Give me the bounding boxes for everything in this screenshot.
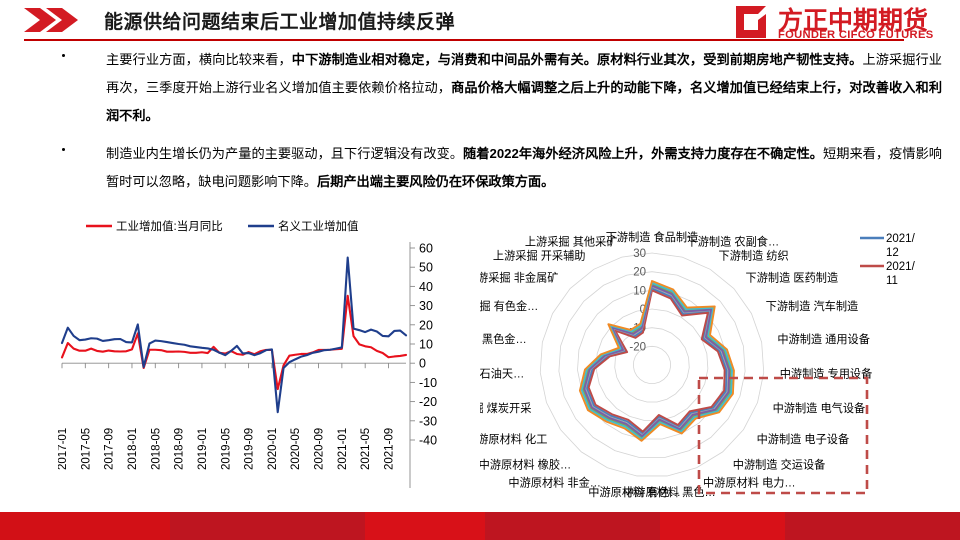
y-axis-label: -20 [419,395,437,409]
radar-category-label: 中游原材料 化工 [480,432,547,446]
radar-category-label: 中游原材料 电力… [703,475,796,489]
y-axis-label: 10 [419,338,433,352]
company-logo: 方正中期期货 FOUNDER CIFCO FUTURES [730,2,946,42]
radial-axis-label: 20 [633,267,646,279]
radar-category-label: 中游制造 电气设备 [773,401,866,415]
legend-label: 2021/ [886,261,916,273]
bullet-emphasis: 随着2022年海外经济风险上升，外需支持力度存在不确定性。 [463,146,823,161]
x-axis-label: 2021-01 [337,428,349,470]
x-axis-label: 2019-09 [244,428,256,470]
radar-category-label: 下游制造 医药制造 [746,271,839,285]
footer-segment [785,512,960,540]
radar-category-label: 中游制造 电子设备 [757,432,850,446]
data-series-line [62,296,406,389]
radar-category-label: 下游制造 食品制造 [606,230,699,244]
radar-category-label: 上游采掘 开采辅助 [493,249,586,263]
y-axis-label: -10 [419,376,437,390]
x-axis-label: 2018-01 [127,428,139,470]
industry-sector-radar-chart: -20-100102030下游制造 食品制造下游制造 农副食…下游制造 纺织下游… [480,220,960,520]
y-axis-label: -30 [419,414,437,428]
y-axis-label: 60 [419,242,433,256]
x-axis-label: 2019-05 [220,428,232,470]
footer-segment [170,512,365,540]
radar-category-label: 上游采掘 其他采矿 [525,235,618,249]
radar-grid-ring [615,328,689,402]
bullet-emphasis: 后期产出端主要风险仍在环保政策方面。 [317,174,554,189]
radial-axis-label: 30 [633,248,646,260]
legend-label-cont: 11 [886,275,898,287]
x-axis-label: 2021-05 [360,428,372,470]
x-axis-label: 2017-01 [58,428,69,470]
double-chevron-right-icon [24,7,90,33]
radar-category-label: 上游采掘 黑色金… [480,332,527,346]
chart-legend: 工业增加值:当月同比名义工业增加值 [86,219,359,233]
bullet-dot-icon [62,148,65,151]
industrial-value-added-line-chart: 工业增加值:当月同比名义工业增加值-40-30-20-1001020304050… [58,218,488,518]
radar-category-label: 中游原材料 非金… [508,475,601,489]
bullet-list: 主要行业方面，横向比较来看，中下游制造业相对稳定，与消费和中间品外需有关。原材料… [62,46,942,206]
footer-segment [660,512,785,540]
y-axis-label: 0 [419,357,426,371]
x-axis-label: 2021-09 [384,428,396,470]
footer-segment [485,512,660,540]
x-axis-label: 2019-01 [197,428,209,470]
footer-segment [365,512,485,540]
x-axis-label: 2017-05 [80,428,92,470]
radar-category-label: 中游制造 通用设备 [777,332,870,346]
logo-text-en: FOUNDER CIFCO FUTURES [778,29,933,41]
y-axis-label: -40 [419,434,437,448]
legend-label: 工业增加值:当月同比 [116,219,223,233]
legend-label: 2021/ [886,233,916,245]
radar-category-label: 中游制造 交运设备 [733,457,826,471]
y-axis-label: 40 [419,280,433,294]
radar-category-label: 中游原材料 橡胶… [480,457,571,471]
x-axis-label: 2020-09 [314,428,326,470]
slide-header: 能源供给问题结束后工业增加值持续反弹 方正中期期货 FOUNDER CIFCO … [0,0,960,42]
x-axis-label: 2017-09 [104,428,116,470]
radar-category-label: 下游制造 汽车制造 [766,299,859,313]
list-item: 制造业内生增长仍为产量的主要驱动，且下行逻辑没有改变。随着2022年海外经济风险… [62,140,942,196]
radial-axis-label: -20 [629,341,646,353]
page-title: 能源供给问题结束后工业增加值持续反弹 [104,7,455,34]
x-axis-label: 2020-05 [290,428,302,470]
legend-label: 名义工业增加值 [278,219,359,233]
radar-category-label: 上游采掘 煤炭开采 [480,401,531,415]
bullet-plain: 制造业内生增长仍为产量的主要驱动，且下行逻辑没有改变。 [106,146,463,161]
radar-category-label: 中游原材料 有色… [588,485,681,499]
x-axis-label: 2018-05 [150,428,162,470]
bullet-dot-icon [62,54,65,57]
radar-category-label: 下游制造 农副食… [687,235,780,249]
x-axis-label: 2020-01 [267,428,279,470]
x-axis-label: 2018-09 [174,428,186,470]
radar-legend: 2021/122021/11 [860,233,916,287]
radar-category-label: 上游采掘 非金属矿 [480,271,558,285]
radar-category-label: 上游采掘 石油天… [480,367,524,381]
footer-bar [0,512,960,540]
y-axis-label: 30 [419,299,433,313]
bullet-text: 主要行业方面，横向比较来看，中下游制造业相对稳定，与消费和中间品外需有关。原材料… [106,46,942,130]
radar-category-label: 上游采掘 有色金… [480,299,538,313]
logo-mark-icon [732,4,772,40]
y-axis-label: 50 [419,261,433,275]
y-axis-label: 20 [419,318,433,332]
bullet-text: 制造业内生增长仍为产量的主要驱动，且下行逻辑没有改变。随着2022年海外经济风险… [106,140,942,196]
bullet-plain: 主要行业方面，横向比较来看， [106,52,292,67]
legend-label-cont: 12 [886,247,899,259]
footer-segment [0,512,170,540]
bullet-emphasis: 中下游制造业相对稳定，与消费和中间品外需有关。原材料行业其次，受到前期房地产韧性… [292,52,863,67]
radial-axis-label: 10 [633,285,646,297]
radar-category-label: 下游制造 纺织 [719,249,789,263]
slide-root: 能源供给问题结束后工业增加值持续反弹 方正中期期货 FOUNDER CIFCO … [0,0,960,540]
list-item: 主要行业方面，横向比较来看，中下游制造业相对稳定，与消费和中间品外需有关。原材料… [62,46,942,130]
